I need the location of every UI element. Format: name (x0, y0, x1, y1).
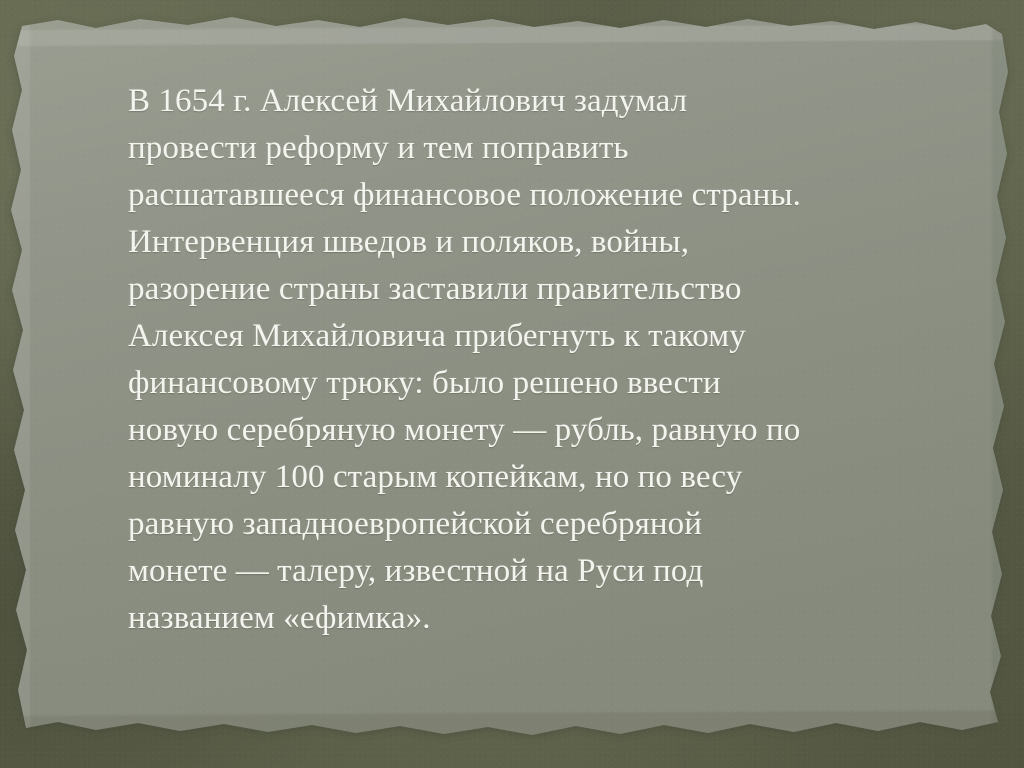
body-line: финансовому трюку: было решено ввести (128, 360, 928, 407)
body-line: провести реформу и тем поправить (128, 125, 928, 172)
body-line: В 1654 г. Алексей Михайлович задумал (128, 78, 928, 125)
body-line: монете — талеру, известной на Руси под (128, 548, 928, 595)
body-line: расшатавшееся финансовое положение стран… (128, 172, 928, 219)
body-line: номиналу 100 старым копейкам, но по весу (128, 454, 928, 501)
body-line: разорение страны заставили правительство (128, 266, 928, 313)
presentation-slide: В 1654 г. Алексей Михайлович задумал про… (0, 0, 1024, 768)
body-line: Интервенция шведов и поляков, войны, (128, 219, 928, 266)
body-line: равную западноевропейской серебряной (128, 501, 928, 548)
body-line: названием «ефимка». (128, 595, 928, 642)
body-line: Алексея Михайловича прибегнуть к такому (128, 313, 928, 360)
body-line: новую серебряную монету — рубль, равную … (128, 407, 928, 454)
slide-body-text: В 1654 г. Алексей Михайлович задумал про… (128, 78, 928, 642)
